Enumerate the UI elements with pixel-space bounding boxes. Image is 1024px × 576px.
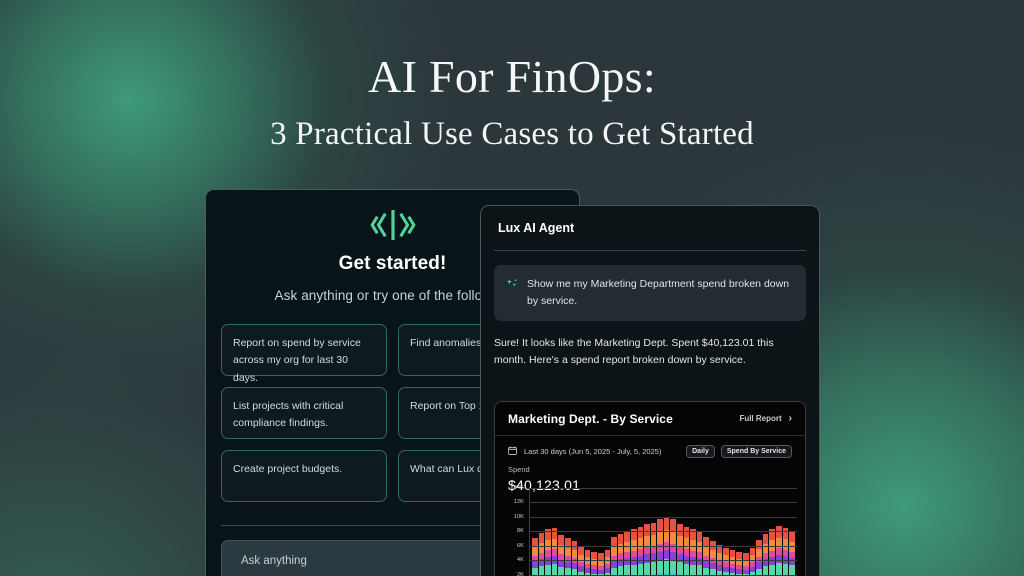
chart-gridline [530, 488, 797, 489]
chart-bar-segment [657, 519, 663, 532]
chart-bar-segment [684, 527, 690, 538]
chart-bar-segment [638, 549, 644, 556]
chart-bar-segment [532, 547, 538, 556]
chart-bar [730, 550, 736, 576]
chart-bar [631, 529, 637, 576]
chart-bar-segment [638, 564, 644, 576]
chart-bar-segment [756, 549, 762, 558]
chart-bar-segment [558, 535, 564, 545]
assistant-message-text: Sure! It looks like the Marketing Dept. … [494, 335, 806, 369]
stage: AI For FinOps: 3 Practical Use Cases to … [0, 0, 1024, 576]
chart-bar-segment [776, 538, 782, 549]
chart-bar-segment [783, 550, 789, 557]
chart-bar-segment [677, 524, 683, 536]
chart-y-tick: 2K [517, 572, 524, 576]
chart-bar [605, 550, 611, 576]
report-card: Marketing Dept. - By Service Full Report… [494, 401, 806, 576]
pill-daily[interactable]: Daily [686, 445, 715, 458]
report-controls-row: Last 30 days (Jun 5, 2025 - July, 5, 202… [495, 436, 805, 458]
chart-bar-segment [539, 533, 545, 543]
chart-bar [532, 538, 538, 576]
chart-bar [750, 548, 756, 576]
lux-ai-agent-panel: Lux AI Agent Show me my Marketing Depart… [480, 205, 820, 576]
chart-bar-segment [783, 528, 789, 539]
chart-bar [763, 534, 769, 576]
page-title: AI For FinOps: [0, 52, 1024, 102]
chart-bar [743, 553, 749, 576]
chart-bar-segment [657, 532, 663, 544]
chart-bar-segment [552, 549, 558, 556]
chart-bar-segment [651, 535, 657, 546]
chart-bar-segment [651, 523, 657, 535]
pill-spend-by-service[interactable]: Spend By Service [721, 445, 792, 458]
chart-bar [539, 533, 545, 576]
chart-bar [598, 553, 604, 576]
chart-y-tick: 6K [517, 543, 524, 549]
chart-bar-segment [598, 553, 604, 560]
chart-bar-segment [684, 564, 690, 576]
chart-bar-segment [618, 534, 624, 544]
chart-bar-segment [789, 558, 795, 565]
chart-bar-segment [750, 548, 756, 556]
chart-y-axis: 24K12K10K8K6K4K2K0 [505, 488, 527, 576]
chart-bar-segment [644, 547, 650, 554]
chart-bar-segment [585, 550, 591, 557]
date-range[interactable]: Last 30 days (Jun 5, 2025 - July, 5, 202… [508, 446, 661, 457]
chart-bar [545, 529, 551, 576]
suggestion-card[interactable]: Create project budgets. [221, 450, 387, 502]
chart-bar-segment [657, 560, 663, 573]
chart-bar-segment [532, 561, 538, 568]
chart-bar [558, 535, 564, 576]
chart-bar-segment [677, 562, 683, 574]
chart-bar [624, 531, 630, 576]
full-report-label: Full Report [739, 414, 781, 423]
chart-bar [684, 527, 690, 576]
chart-bar [638, 527, 644, 576]
chart-bar-segment [743, 553, 749, 560]
chart-y-tick: 24K [514, 485, 524, 491]
chart-bar-segment [789, 542, 795, 552]
chart-gridline [530, 517, 797, 518]
user-message-text: Show me my Marketing Department spend br… [527, 276, 794, 310]
chart-gridline [530, 560, 797, 561]
chart-bar [690, 529, 696, 576]
chart-bar-segment [776, 548, 782, 555]
chart-bar [591, 552, 597, 576]
chart-bar-segment [651, 562, 657, 574]
chart-bar [736, 552, 742, 576]
chart-bar-segment [697, 558, 703, 565]
chart-bar-segment [638, 538, 644, 549]
chart-bar-segment [750, 555, 756, 562]
chart-bar-segment [703, 547, 709, 556]
chart-bar-segment [611, 561, 617, 568]
chart-bar-segment [591, 552, 597, 559]
chart-gridline [530, 546, 797, 547]
suggestion-card[interactable]: Report on spend by service across my org… [221, 324, 387, 376]
report-pill-group: Daily Spend By Service [686, 445, 792, 458]
page-subtitle: 3 Practical Use Cases to Get Started [0, 116, 1024, 154]
full-report-link[interactable]: Full Report › [739, 414, 792, 424]
chart-bar-segment [723, 555, 729, 562]
chart-bar-segment [605, 550, 611, 557]
chart-bar-segment [624, 558, 630, 565]
chart-bar-segment [545, 550, 551, 557]
chart-bar-segment [697, 542, 703, 552]
spend-label: Spend [495, 458, 805, 474]
page-heading: AI For FinOps: 3 Practical Use Cases to … [0, 52, 1024, 154]
chart-bar-segment [756, 540, 762, 549]
chart-y-tick: 8K [517, 528, 524, 534]
chart-bar-segment [657, 552, 663, 561]
chart-bar-segment [684, 549, 690, 556]
sparkle-icon [506, 277, 518, 295]
chart-bar-segment [664, 517, 670, 530]
chart-bar [670, 519, 676, 576]
chart-bar-segment [651, 546, 657, 553]
chart-bar [578, 547, 584, 576]
chart-bar [611, 537, 617, 576]
chart-bar-segment [552, 528, 558, 539]
chart-bar [769, 529, 775, 576]
chart-bar-segment [730, 550, 736, 557]
chart-bar-segment [670, 532, 676, 544]
chart-bar-segment [670, 519, 676, 532]
chart-bar-segment [776, 555, 782, 563]
chart-gridline [530, 502, 797, 503]
suggestion-card[interactable]: List projects with critical compliance f… [221, 387, 387, 439]
spend-chart: 24K12K10K8K6K4K2K0 [495, 488, 805, 576]
agent-header-divider [494, 250, 806, 251]
chart-bar-segment [677, 547, 683, 554]
chart-bar-segment [638, 527, 644, 538]
chart-bar [657, 519, 663, 576]
chart-bar [723, 548, 729, 576]
chart-bar-segment [723, 548, 729, 556]
chart-bar [783, 528, 789, 576]
chart-bar [776, 526, 782, 576]
agent-title: Lux AI Agent [498, 221, 574, 235]
chevron-right-icon: › [789, 414, 792, 424]
chart-bar-segment [763, 534, 769, 544]
report-header: Marketing Dept. - By Service Full Report… [495, 402, 805, 436]
chart-bar-segment [578, 547, 584, 555]
chart-bar-segment [664, 559, 670, 572]
chart-bar-segment [670, 552, 676, 561]
chart-bar-segment [565, 548, 571, 557]
sparkle-glyph [506, 278, 518, 290]
chart-bar-segment [644, 563, 650, 575]
chart-y-tick: 10K [514, 514, 524, 520]
chart-bar-segment [572, 550, 578, 558]
chart-bar [585, 550, 591, 576]
chart-bar [697, 531, 703, 576]
chart-gridline [530, 531, 797, 532]
chart-bar-segment [624, 542, 630, 552]
chart-bar [618, 534, 624, 576]
chart-bar [565, 538, 571, 576]
chart-y-tick: 4K [517, 557, 524, 563]
lux-logo-glyph [370, 209, 416, 241]
chart-gridline [530, 575, 797, 576]
agent-header: Lux AI Agent [481, 206, 819, 250]
calendar-glyph [508, 446, 517, 455]
chart-bar-segment [624, 531, 630, 542]
chart-bar-segment [710, 550, 716, 558]
chart-bar-segment [684, 538, 690, 549]
chart-bar-segment [789, 531, 795, 542]
chart-bar-segment [783, 539, 789, 549]
chart-bar-segment [697, 531, 703, 542]
chart-bar-segment [670, 560, 676, 573]
chart-bar-segment [736, 552, 742, 559]
chart-bar-segment [611, 547, 617, 556]
ask-anything-placeholder: Ask anything [241, 555, 307, 567]
chart-bar [552, 528, 558, 576]
chart-bar-segment [776, 563, 782, 575]
chart-bar-segment [664, 550, 670, 559]
calendar-icon [508, 446, 517, 457]
report-title: Marketing Dept. - By Service [508, 412, 673, 426]
chart-bar-segment [644, 554, 650, 562]
chart-bar [703, 537, 709, 576]
chart-bar-segment [552, 539, 558, 550]
chart-bar-segment [703, 561, 709, 568]
chart-bar [789, 531, 795, 576]
date-range-label: Last 30 days (Jun 5, 2025 - July, 5, 202… [524, 447, 661, 456]
user-message-bubble: Show me my Marketing Department spend br… [494, 265, 806, 321]
chart-y-tick: 12K [514, 499, 524, 505]
chart-plot-area [529, 488, 797, 576]
